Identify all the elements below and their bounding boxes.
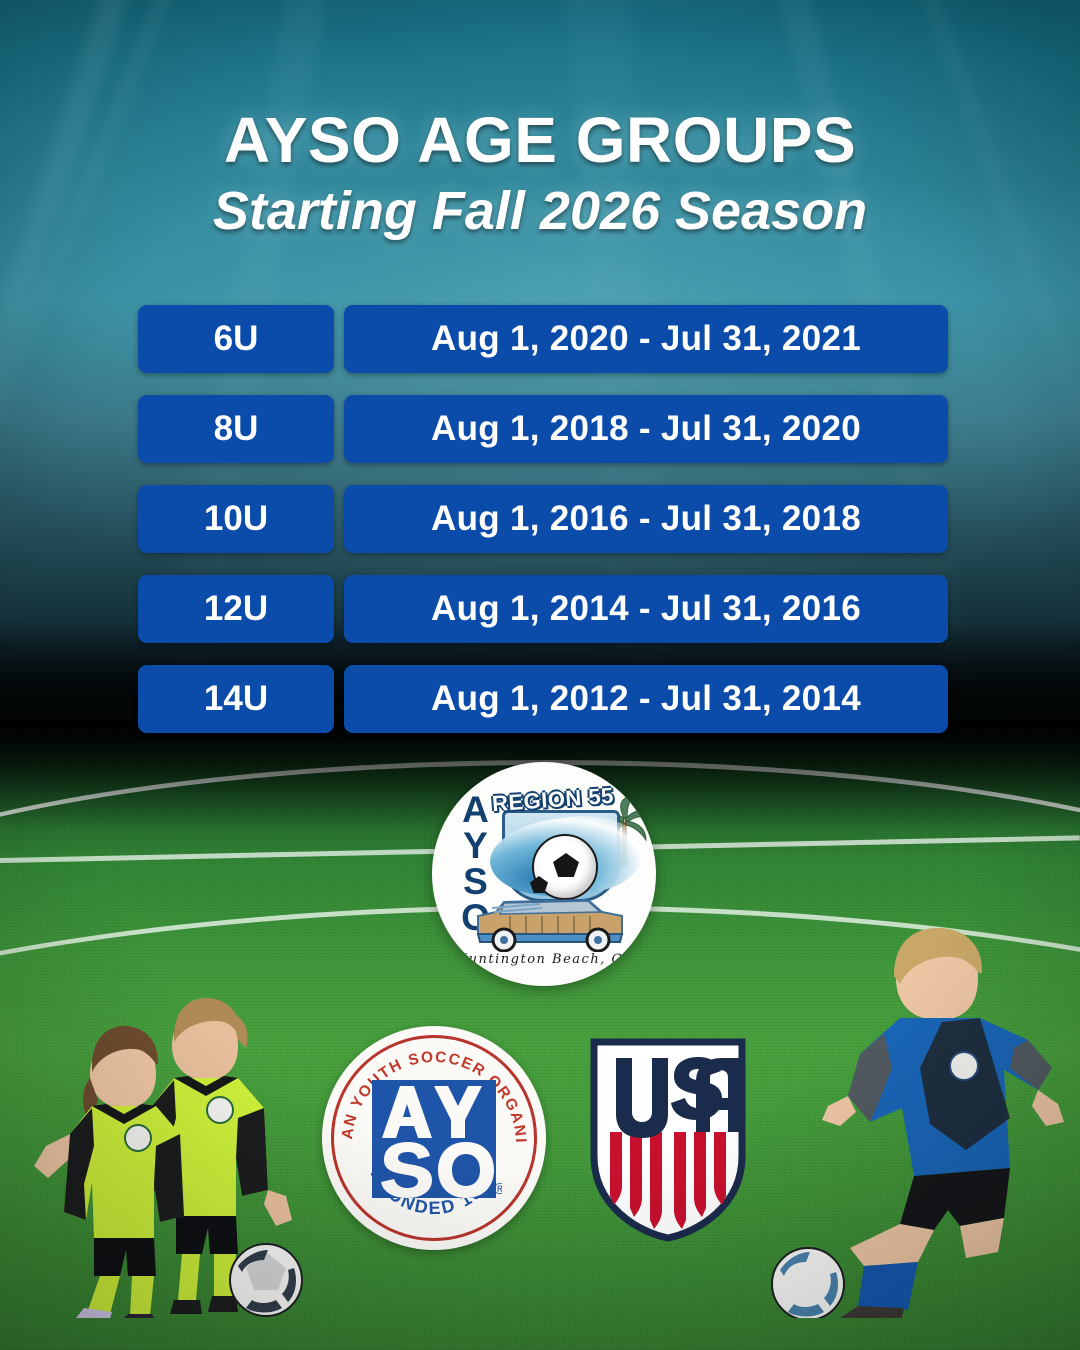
birth-date-range: Aug 1, 2018 - Jul 31, 2020	[344, 395, 948, 463]
table-row: 12U Aug 1, 2014 - Jul 31, 2016	[138, 575, 948, 643]
age-group-label: 12U	[138, 575, 334, 643]
ayso-monogram-icon: ®	[366, 1076, 502, 1204]
poster-heading-block: AYSO AGE GROUPS Starting Fall 2026 Seaso…	[0, 108, 1080, 238]
table-row: 14U Aug 1, 2012 - Jul 31, 2014	[138, 665, 948, 733]
age-group-label: 10U	[138, 485, 334, 553]
region-55-badge-icon: AYSO REGION 55 Huntington Beach, Ca	[432, 762, 656, 986]
badge-city-text: Huntington Beach, Ca	[432, 952, 656, 967]
ayso-organization-logo: AMERICAN YOUTH SOCCER ORGANIZATION FOUND…	[322, 1026, 546, 1250]
age-group-label: 8U	[138, 395, 334, 463]
table-row: 8U Aug 1, 2018 - Jul 31, 2020	[138, 395, 948, 463]
boy-player-photo	[752, 918, 1070, 1318]
woodie-wagon-icon	[470, 890, 630, 952]
birth-date-range: Aug 1, 2014 - Jul 31, 2016	[344, 575, 948, 643]
registered-mark: ®	[494, 1181, 502, 1198]
age-group-label: 14U	[138, 665, 334, 733]
girls-players-photo	[24, 928, 324, 1318]
birth-date-range: Aug 1, 2020 - Jul 31, 2021	[344, 305, 948, 373]
age-group-label: 6U	[138, 305, 334, 373]
page-title: AYSO AGE GROUPS	[0, 108, 1080, 172]
table-row: 6U Aug 1, 2020 - Jul 31, 2021	[138, 305, 948, 373]
ayso-age-groups-poster: AYSO AGE GROUPS Starting Fall 2026 Seaso…	[0, 0, 1080, 1350]
page-subtitle: Starting Fall 2026 Season	[0, 184, 1080, 238]
birth-date-range: Aug 1, 2012 - Jul 31, 2014	[344, 665, 948, 733]
age-groups-table: 6U Aug 1, 2020 - Jul 31, 2021 8U Aug 1, …	[138, 305, 948, 755]
table-row: 10U Aug 1, 2016 - Jul 31, 2018	[138, 485, 948, 553]
usa-soccer-crest-icon	[588, 1036, 748, 1244]
birth-date-range: Aug 1, 2016 - Jul 31, 2018	[344, 485, 948, 553]
